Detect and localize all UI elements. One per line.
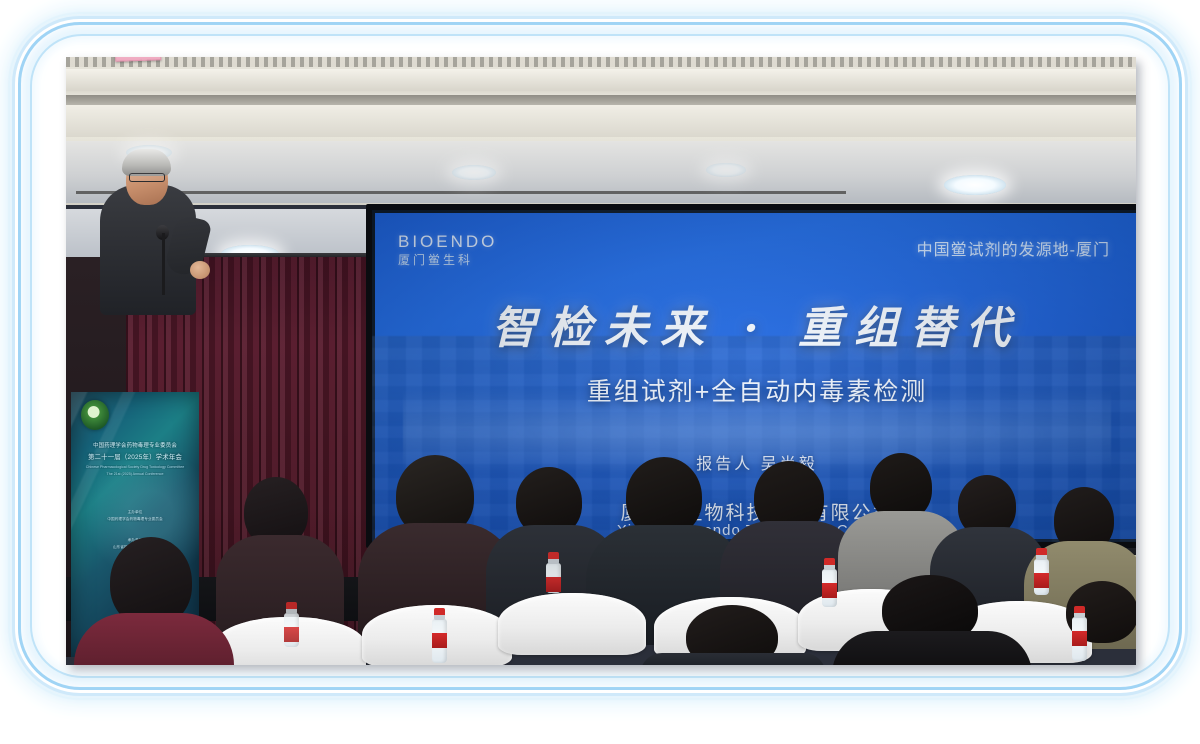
podium-host-name: 中国药理学会药物毒理专业委员会 [77, 517, 193, 522]
bottle-cap [1036, 548, 1047, 555]
brand-english: BIOENDO [398, 232, 497, 252]
water-bottle [546, 563, 561, 593]
audience-body [640, 653, 826, 665]
ceiling-light-1 [944, 175, 1006, 195]
ceiling-vent [66, 57, 1136, 67]
water-bottle [432, 619, 447, 663]
speaker-hair [122, 149, 171, 176]
conference-emblem-icon [81, 400, 109, 430]
ceiling-light-5 [706, 163, 746, 177]
ceiling-band-2 [66, 95, 1136, 105]
water-bottle [1072, 617, 1087, 661]
podium-title-line1: 中国药理学会药物毒理专业委员会 [77, 441, 193, 449]
podium-host-label: 主办单位 [77, 510, 193, 515]
podium-subtitle-en-2: The 21st (2025) Annual Conference [77, 472, 193, 476]
speaker-hand [190, 261, 210, 279]
ceiling-light-4 [452, 165, 496, 180]
audience-chair [498, 593, 646, 655]
bottle-label [1034, 573, 1049, 588]
bottle-cap [434, 608, 445, 615]
brand-chinese: 厦门鲎生科 [398, 254, 497, 268]
speaker-glasses [129, 173, 165, 182]
podium-subtitle-en-1: Chinese Pharmacological Society Drug Tox… [77, 465, 193, 469]
audience-body [832, 631, 1032, 665]
ceiling-band-1 [66, 69, 1136, 91]
bottle-label [822, 583, 837, 598]
bottle-label [1072, 631, 1087, 646]
bottle-label [284, 627, 299, 642]
bottle-cap [1074, 606, 1085, 613]
audience-body [74, 613, 234, 665]
water-bottle [822, 569, 837, 607]
microphone-stand [162, 233, 165, 295]
water-bottle [284, 613, 299, 647]
ceiling-band-3 [66, 107, 1136, 137]
bioendo-logo: BIOENDO 厦门鲎生科 [398, 232, 497, 267]
water-bottle [1034, 559, 1049, 595]
podium-title-line2: 第二十一届（2025年）学术年会 [77, 452, 193, 461]
bottle-label [546, 577, 561, 592]
ceiling-rail [76, 191, 846, 194]
screen-presenter: 报告人 吴尚毅 [372, 450, 1136, 474]
screenshot-root: BIOENDO 厦门鲎生科 中国鲎试剂的发源地-厦门 智检未来 · 重组替代 重… [0, 0, 1200, 744]
screen-title: 智检未来 · 重组替代 [372, 292, 1136, 356]
screen-subtitle: 重组试剂+全自动内毒素检测 [372, 372, 1136, 408]
bottle-cap [548, 552, 559, 559]
bottle-cap [286, 602, 297, 609]
bottle-label [432, 633, 447, 648]
bottle-cap [824, 558, 835, 565]
conference-photo: BIOENDO 厦门鲎生科 中国鲎试剂的发源地-厦门 智检未来 · 重组替代 重… [66, 57, 1136, 665]
screen-tagline: 中国鲎试剂的发源地-厦门 [917, 236, 1110, 260]
